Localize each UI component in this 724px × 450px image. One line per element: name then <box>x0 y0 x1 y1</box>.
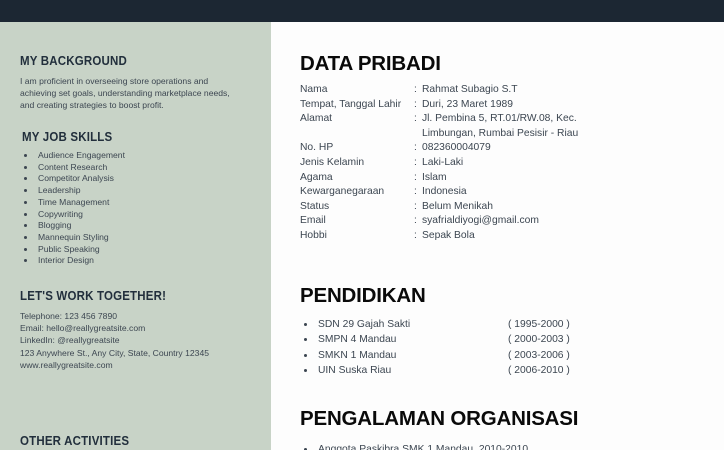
list-item: Content Research <box>36 162 125 174</box>
field-value: 082360004079 <box>422 141 700 156</box>
education-years: ( 2006-2010 ) <box>508 363 570 378</box>
field-colon: : <box>414 200 422 215</box>
education-school: SDN 29 Gajah Sakti <box>318 317 508 332</box>
table-row: Tempat, Tanggal Lahir : Duri, 23 Maret 1… <box>300 98 700 113</box>
field-colon: : <box>414 141 422 156</box>
personal-data-table: Nama : Rahmat Subagio S.T Tempat, Tangga… <box>300 83 700 244</box>
contact-linkedin: LinkedIn: @reallygreatsite <box>20 334 260 346</box>
field-colon: : <box>414 83 422 98</box>
sidebar-heading-lets-work-together: LET'S WORK TOGETHER! <box>20 289 166 303</box>
field-label: Tempat, Tanggal Lahir <box>300 98 414 113</box>
sidebar-heading-my-job-skills: MY JOB SKILLS <box>22 130 112 144</box>
list-item: Time Management <box>36 197 125 209</box>
field-value: Indonesia <box>422 185 700 200</box>
education-school: UIN Suska Riau <box>318 363 508 378</box>
field-label: Agama <box>300 171 414 186</box>
field-colon: : <box>414 214 422 229</box>
field-value: Islam <box>422 171 700 186</box>
list-item: Leadership <box>36 185 125 197</box>
sidebar-background-paragraph: I am proficient in overseeing store oper… <box>20 75 242 112</box>
list-item: SMPN 4 Mandau ( 2000-2003 ) <box>316 332 706 347</box>
education-school: SMKN 1 Mandau <box>318 348 508 363</box>
table-row-continuation: Limbungan, Rumbai Pesisir - Riau <box>300 127 700 142</box>
list-item: SDN 29 Gajah Sakti ( 1995-2000 ) <box>316 317 706 332</box>
field-label: Alamat <box>300 112 414 127</box>
organization-list: Anggota Paskibra SMK 1 Mandau, 2010-2010 <box>316 442 706 450</box>
field-label: Status <box>300 200 414 215</box>
table-row: Email : syafrialdiyogi@gmail.com <box>300 214 700 229</box>
field-value: Belum Menikah <box>422 200 700 215</box>
table-row: Alamat : Jl. Pembina 5, RT.01/RW.08, Kec… <box>300 112 700 127</box>
sidebar-skills-list: Audience Engagement Content Research Com… <box>36 150 125 267</box>
education-school: SMPN 4 Mandau <box>318 332 508 347</box>
field-colon: : <box>414 112 422 127</box>
list-item: Blogging <box>36 220 125 232</box>
resume-page: MY BACKGROUND I am proficient in oversee… <box>0 0 724 450</box>
field-label: No. HP <box>300 141 414 156</box>
list-item: Public Speaking <box>36 244 125 256</box>
field-label: Hobbi <box>300 229 414 244</box>
table-row: Nama : Rahmat Subagio S.T <box>300 83 700 98</box>
field-colon: : <box>414 171 422 186</box>
main-content: DATA PRIBADI Nama : Rahmat Subagio S.T T… <box>271 22 724 450</box>
education-years: ( 2000-2003 ) <box>508 332 570 347</box>
contact-telephone: Telephone: 123 456 7890 <box>20 310 260 322</box>
table-row: No. HP : 082360004079 <box>300 141 700 156</box>
field-value: Laki-Laki <box>422 156 700 171</box>
field-colon: : <box>414 229 422 244</box>
table-row: Kewarganegaraan : Indonesia <box>300 185 700 200</box>
table-row: Agama : Islam <box>300 171 700 186</box>
list-item: Competitor Analysis <box>36 173 125 185</box>
section-heading-pendidikan: PENDIDIKAN <box>300 284 426 308</box>
field-value: Sepak Bola <box>422 229 700 244</box>
sidebar-heading-other-activities: OTHER ACTIVITIES <box>20 434 129 448</box>
field-value: Duri, 23 Maret 1989 <box>422 98 700 113</box>
field-value: syafrialdiyogi@gmail.com <box>422 214 700 229</box>
list-item: SMKN 1 Mandau ( 2003-2006 ) <box>316 348 706 363</box>
section-heading-pengalaman-organisasi: PENGALAMAN ORGANISASI <box>300 407 578 431</box>
top-dark-bar <box>0 0 724 22</box>
contact-address: 123 Anywhere St., Any City, State, Count… <box>20 347 260 359</box>
sidebar: MY BACKGROUND I am proficient in oversee… <box>0 22 271 450</box>
list-item: Anggota Paskibra SMK 1 Mandau, 2010-2010 <box>316 442 706 450</box>
field-label: Email <box>300 214 414 229</box>
field-value: Rahmat Subagio S.T <box>422 83 700 98</box>
list-item: Interior Design <box>36 255 125 267</box>
section-heading-data-pribadi: DATA PRIBADI <box>300 52 441 76</box>
sidebar-heading-my-background: MY BACKGROUND <box>20 54 127 68</box>
field-colon: : <box>414 185 422 200</box>
table-row: Status : Belum Menikah <box>300 200 700 215</box>
education-years: ( 1995-2000 ) <box>508 317 570 332</box>
list-item: Mannequin Styling <box>36 232 125 244</box>
list-item: UIN Suska Riau ( 2006-2010 ) <box>316 363 706 378</box>
table-row: Jenis Kelamin : Laki-Laki <box>300 156 700 171</box>
field-value-continuation: Limbungan, Rumbai Pesisir - Riau <box>422 127 578 142</box>
field-colon: : <box>414 156 422 171</box>
education-list: SDN 29 Gajah Sakti ( 1995-2000 ) SMPN 4 … <box>316 317 706 379</box>
field-label: Nama <box>300 83 414 98</box>
list-item: Audience Engagement <box>36 150 125 162</box>
table-row: Hobbi : Sepak Bola <box>300 229 700 244</box>
field-label: Jenis Kelamin <box>300 156 414 171</box>
field-colon: : <box>414 98 422 113</box>
sidebar-contact-block: Telephone: 123 456 7890 Email: hello@rea… <box>20 310 260 371</box>
list-item: Copywriting <box>36 209 125 221</box>
contact-email: Email: hello@reallygreatsite.com <box>20 322 260 334</box>
education-years: ( 2003-2006 ) <box>508 348 570 363</box>
contact-website: www.reallygreatsite.com <box>20 359 260 371</box>
field-value: Jl. Pembina 5, RT.01/RW.08, Kec. <box>422 112 700 127</box>
field-label: Kewarganegaraan <box>300 185 414 200</box>
